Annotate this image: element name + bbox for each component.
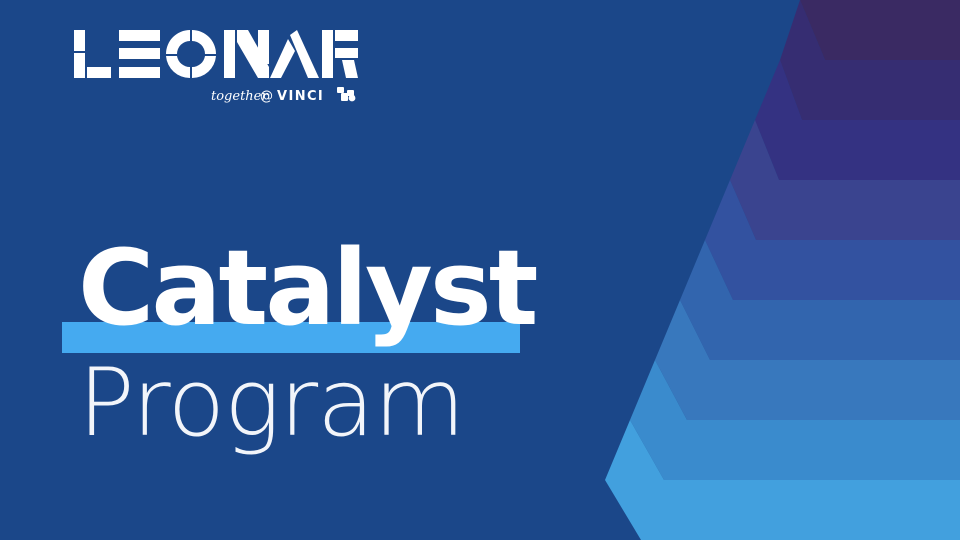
band-3	[755, 60, 960, 180]
tagline-at-symbol: @	[260, 89, 273, 104]
wordmark-glyphs	[74, 30, 359, 78]
title-block: Catalyst Program	[62, 236, 622, 452]
letter-R	[322, 30, 358, 78]
band-1	[800, 0, 960, 60]
leonard-wordmark-logo	[74, 30, 359, 78]
band-9	[605, 420, 960, 540]
vinci-plus-icon	[337, 87, 355, 101]
title-slide: together @ VINCI Catalyst Program	[0, 0, 960, 540]
band-6	[680, 240, 960, 360]
letter-N	[224, 30, 269, 78]
together-at-vinci-tagline: together @ VINCI	[211, 85, 359, 105]
band-5	[705, 180, 960, 300]
leonard-logo-block: together @ VINCI	[74, 30, 374, 106]
band-7	[655, 300, 960, 420]
band-2	[780, 0, 960, 120]
vinci-tagline-row: together @ VINCI	[74, 84, 359, 106]
letter-O	[166, 30, 216, 78]
page-subtitle: Program	[62, 340, 622, 452]
band-group	[605, 0, 960, 540]
page-title: Catalyst	[62, 236, 622, 340]
tagline-vinci-text: VINCI	[277, 89, 324, 104]
band-4	[730, 120, 960, 240]
letter-L	[74, 30, 111, 78]
band-8	[630, 360, 960, 480]
letter-E	[119, 30, 160, 78]
letter-A	[270, 30, 319, 78]
